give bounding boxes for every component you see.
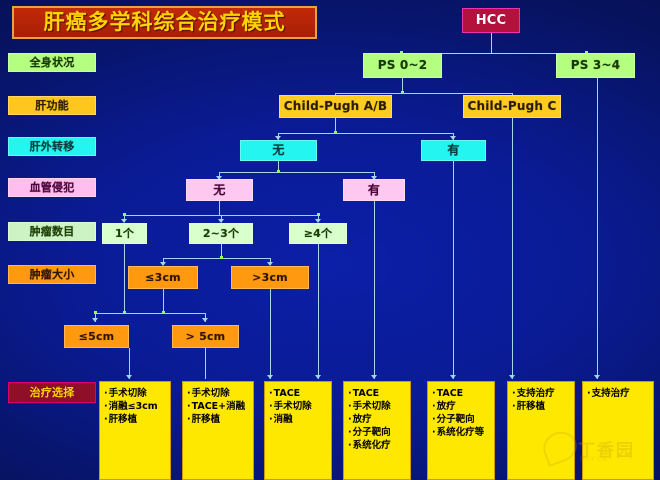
- treatment-item: ·放疗: [432, 400, 492, 413]
- connector-spread-bus: [278, 133, 453, 134]
- treatment-box-2[interactable]: ·手术切除 ·TACE+消融 ·肝移植: [182, 381, 254, 480]
- treatment-item: ·分子靶向: [348, 426, 408, 439]
- treatment-item: ·TACE: [432, 387, 492, 400]
- node-extrahepatic-spread-yes[interactable]: 有: [421, 140, 486, 161]
- treatment-item: ·系统化疗等: [432, 426, 492, 439]
- treatment-item: ·TACE: [348, 387, 408, 400]
- node-hcc[interactable]: HCC: [462, 8, 520, 33]
- arrow-t4: [371, 375, 377, 379]
- node-extrahepatic-spread-no[interactable]: 无: [240, 140, 317, 161]
- treatment-item: ·肝移植: [104, 413, 168, 426]
- node-size-le-3cm[interactable]: ≤3cm: [128, 266, 198, 289]
- connector-ps34-down: [597, 78, 598, 379]
- node-tumor-number-2-3[interactable]: 2~3个: [189, 223, 253, 244]
- connector-spread-yes-down: [453, 161, 454, 379]
- connector-le3-down: [163, 289, 164, 313]
- arrow-t2: [267, 375, 273, 379]
- treatment-item: ·手术切除: [269, 400, 329, 413]
- node-size-gt-5cm[interactable]: > 5cm: [172, 325, 239, 348]
- junction: [123, 213, 126, 216]
- node-tumor-number-1[interactable]: 1个: [102, 223, 147, 244]
- node-ps-3-4[interactable]: PS 3~4: [556, 53, 635, 78]
- treatment-item: ·手术切除: [104, 387, 168, 400]
- connector-gt5-down: [205, 348, 206, 379]
- arrow-t7: [594, 375, 600, 379]
- treatment-box-3[interactable]: ·TACE ·手术切除 ·消融: [264, 381, 332, 480]
- node-child-pugh-c[interactable]: Child-Pugh C: [463, 95, 561, 118]
- sidebar-item-extrahepatic-spread[interactable]: 肝外转移: [8, 137, 96, 156]
- treatment-item: ·消融: [269, 413, 329, 426]
- sidebar-item-tumor-size[interactable]: 肿瘤大小: [8, 265, 96, 284]
- treatment-box-4[interactable]: ·TACE ·手术切除 ·放疗 ·分子靶向 ·系统化疗: [343, 381, 411, 480]
- node-vascular-invasion-no[interactable]: 无: [186, 179, 253, 201]
- junction: [334, 131, 337, 134]
- watermark-subtext: DXY.CN: [580, 456, 608, 463]
- sidebar-item-performance-status[interactable]: 全身状况: [8, 53, 96, 72]
- sidebar-item-liver-function[interactable]: 肝功能: [8, 96, 96, 115]
- connector-vasc-yes-down: [374, 201, 375, 379]
- connector-gt3-down: [270, 289, 271, 379]
- connector-hcc-down: [491, 33, 492, 53]
- treatment-box-5[interactable]: ·TACE ·放疗 ·分子靶向 ·系统化疗等: [427, 381, 495, 480]
- junction: [277, 170, 280, 173]
- diagram-canvas: 肝癌多学科综合治疗模式 全身状况 肝功能 肝外转移 血管侵犯 肿瘤数目 肿瘤大小…: [0, 0, 660, 480]
- treatment-box-6[interactable]: ·支持治疗 ·肝移植: [507, 381, 575, 480]
- connector-childpugh-bus: [335, 93, 512, 94]
- arrow-t6: [509, 375, 515, 379]
- treatment-item: ·消融≤3cm: [104, 400, 168, 413]
- treatment-item: ·分子靶向: [432, 413, 492, 426]
- sidebar-item-treatment-choice[interactable]: 治疗选择: [8, 382, 96, 403]
- page-title: 肝癌多学科综合治疗模式: [12, 6, 317, 39]
- connector-cpc-down: [512, 118, 513, 379]
- node-tumor-number-4plus[interactable]: ≥4个: [289, 223, 347, 244]
- junction: [123, 311, 126, 314]
- junction: [401, 91, 404, 94]
- sidebar-item-vascular-invasion[interactable]: 血管侵犯: [8, 178, 96, 197]
- connector-size-bus: [163, 258, 270, 259]
- junction: [317, 213, 320, 216]
- treatment-item: ·放疗: [348, 413, 408, 426]
- node-size-gt-3cm[interactable]: >3cm: [231, 266, 309, 289]
- arrow-gt5: [202, 318, 208, 322]
- treatment-item: ·系统化疗: [348, 439, 408, 452]
- connector-vasc-no-down: [219, 201, 220, 215]
- arrow-t1: [126, 375, 132, 379]
- treatment-item: ·TACE: [269, 387, 329, 400]
- junction: [162, 311, 165, 314]
- node-child-pugh-ab[interactable]: Child-Pugh A/B: [279, 95, 392, 118]
- junction: [94, 311, 97, 314]
- treatment-item: ·手术切除: [187, 387, 251, 400]
- node-vascular-invasion-yes[interactable]: 有: [343, 179, 405, 201]
- connector-num1-down: [124, 244, 125, 313]
- connector-vascular-bus: [219, 172, 374, 173]
- arrow-t3: [315, 375, 321, 379]
- treatment-item: ·手术切除: [348, 400, 408, 413]
- sidebar-item-tumor-number[interactable]: 肿瘤数目: [8, 222, 96, 241]
- node-ps-0-2[interactable]: PS 0~2: [363, 53, 442, 78]
- connector-num4-down: [318, 244, 319, 379]
- junction: [220, 256, 223, 259]
- arrow-le5: [92, 318, 98, 322]
- treatment-item: ·肝移植: [187, 413, 251, 426]
- treatment-item: ·TACE+消融: [187, 400, 251, 413]
- node-size-le-5cm[interactable]: ≤5cm: [64, 325, 129, 348]
- treatment-item: ·肝移植: [512, 400, 572, 413]
- arrow-t5: [450, 375, 456, 379]
- treatment-item: ·支持治疗: [512, 387, 572, 400]
- connector-5cm-bus: [95, 313, 205, 314]
- treatment-box-1[interactable]: ·手术切除 ·消融≤3cm ·肝移植: [99, 381, 171, 480]
- treatment-box-7[interactable]: ·支持治疗: [582, 381, 654, 480]
- treatment-item: ·支持治疗: [587, 387, 651, 400]
